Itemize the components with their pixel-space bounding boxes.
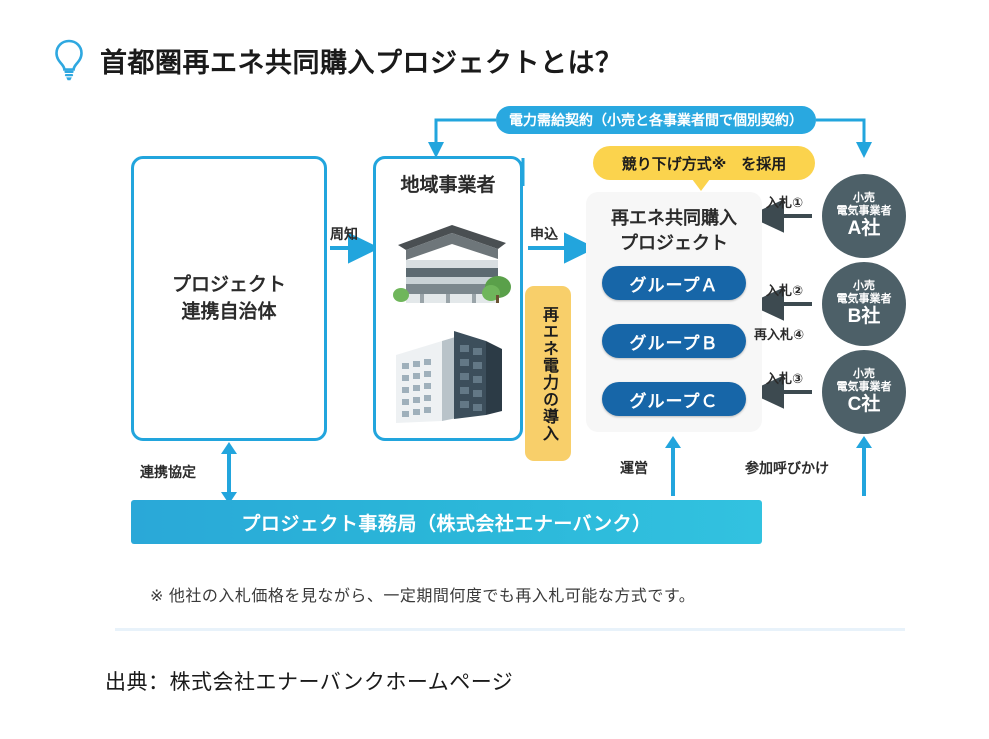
retailer-a-name: A社: [848, 218, 881, 240]
label-cooperation-agreement: 連携協定: [140, 462, 196, 482]
municipality-line2: 連携自治体: [134, 299, 324, 327]
box-renewable-power-introduction: 再エネ電力の導入: [525, 286, 571, 461]
project-title: 再エネ共同購入 プロジェクト: [586, 206, 762, 256]
renewable-power-introduction-text: 再エネ電力の導入: [525, 286, 571, 461]
retailer-a-small2: 電気事業者: [837, 205, 892, 218]
office-tower-photo: [390, 319, 512, 429]
municipality-line1: プロジェクト: [134, 271, 324, 299]
office-building-photo: [390, 219, 512, 307]
label-call-for-participation: 参加呼びかけ: [745, 458, 829, 478]
retailer-c-small1: 小売: [853, 368, 875, 381]
banner-contract-text: 電力需給契約（小売と各事業者間で個別契約）: [509, 110, 803, 130]
bubble-tail: [692, 179, 710, 191]
source-citation: 出典：株式会社エナーバンクホームページ: [105, 666, 513, 696]
box-partner-municipality: プロジェクト 連携自治体: [131, 156, 327, 441]
section-divider: [115, 628, 905, 631]
page-header: 首都圏再エネ共同購入プロジェクトとは？: [52, 34, 932, 86]
box-local-businesses: 地域事業者: [373, 156, 523, 441]
card-joint-purchase-project: 再エネ共同購入 プロジェクト グループＡ グループＢ グループＣ: [586, 192, 762, 432]
label-notify: 周知: [330, 224, 358, 244]
label-apply: 申込: [530, 224, 558, 244]
retailer-a-small1: 小売: [853, 192, 875, 205]
bubble-auction-text: 競り下げ方式※ を採用: [622, 153, 787, 174]
retailer-circle-b: 小売 電気事業者 B社: [822, 262, 906, 346]
retailer-circle-a: 小売 電気事業者 A社: [822, 174, 906, 258]
project-title-line1: 再エネ共同購入: [586, 206, 762, 231]
label-operation: 運営: [620, 458, 648, 478]
banner-power-supply-contract: 電力需給契約（小売と各事業者間で個別契約）: [496, 106, 816, 134]
retailer-c-small2: 電気事業者: [837, 381, 892, 394]
diagram-canvas: 電力需給契約（小売と各事業者間で個別契約） 競り下げ方式※ を採用 プロジェクト…: [0, 96, 989, 636]
label-bid-2: 入札②: [766, 280, 803, 299]
bubble-auction-method: 競り下げ方式※ を採用: [593, 146, 815, 180]
page-title: 首都圏再エネ共同購入プロジェクトとは？: [100, 41, 623, 80]
municipality-label: プロジェクト 連携自治体: [134, 271, 324, 326]
retailer-b-small2: 電気事業者: [837, 293, 892, 306]
retailer-b-name: B社: [848, 306, 881, 328]
retailer-b-small1: 小売: [853, 280, 875, 293]
diagram-footnote: ※ 他社の入札価格を見ながら、一定期間何度でも再入札可能な方式です。: [150, 582, 870, 606]
lightbulb-icon: [52, 38, 86, 82]
label-bid-1: 入札①: [766, 192, 803, 211]
secretariat-text: プロジェクト事務局（株式会社エナーバンク）: [241, 509, 651, 536]
group-pill-c[interactable]: グループＣ: [602, 382, 746, 416]
label-rebid-4: 再入札④: [754, 324, 804, 343]
local-business-title: 地域事業者: [376, 173, 520, 199]
label-bid-3: 入札③: [766, 368, 803, 387]
group-pill-b[interactable]: グループＢ: [602, 324, 746, 358]
retailer-circle-c: 小売 電気事業者 C社: [822, 350, 906, 434]
group-pill-a[interactable]: グループＡ: [602, 266, 746, 300]
retailer-c-name: C社: [848, 394, 881, 416]
bar-project-secretariat: プロジェクト事務局（株式会社エナーバンク）: [131, 500, 762, 544]
project-title-line2: プロジェクト: [586, 231, 762, 256]
